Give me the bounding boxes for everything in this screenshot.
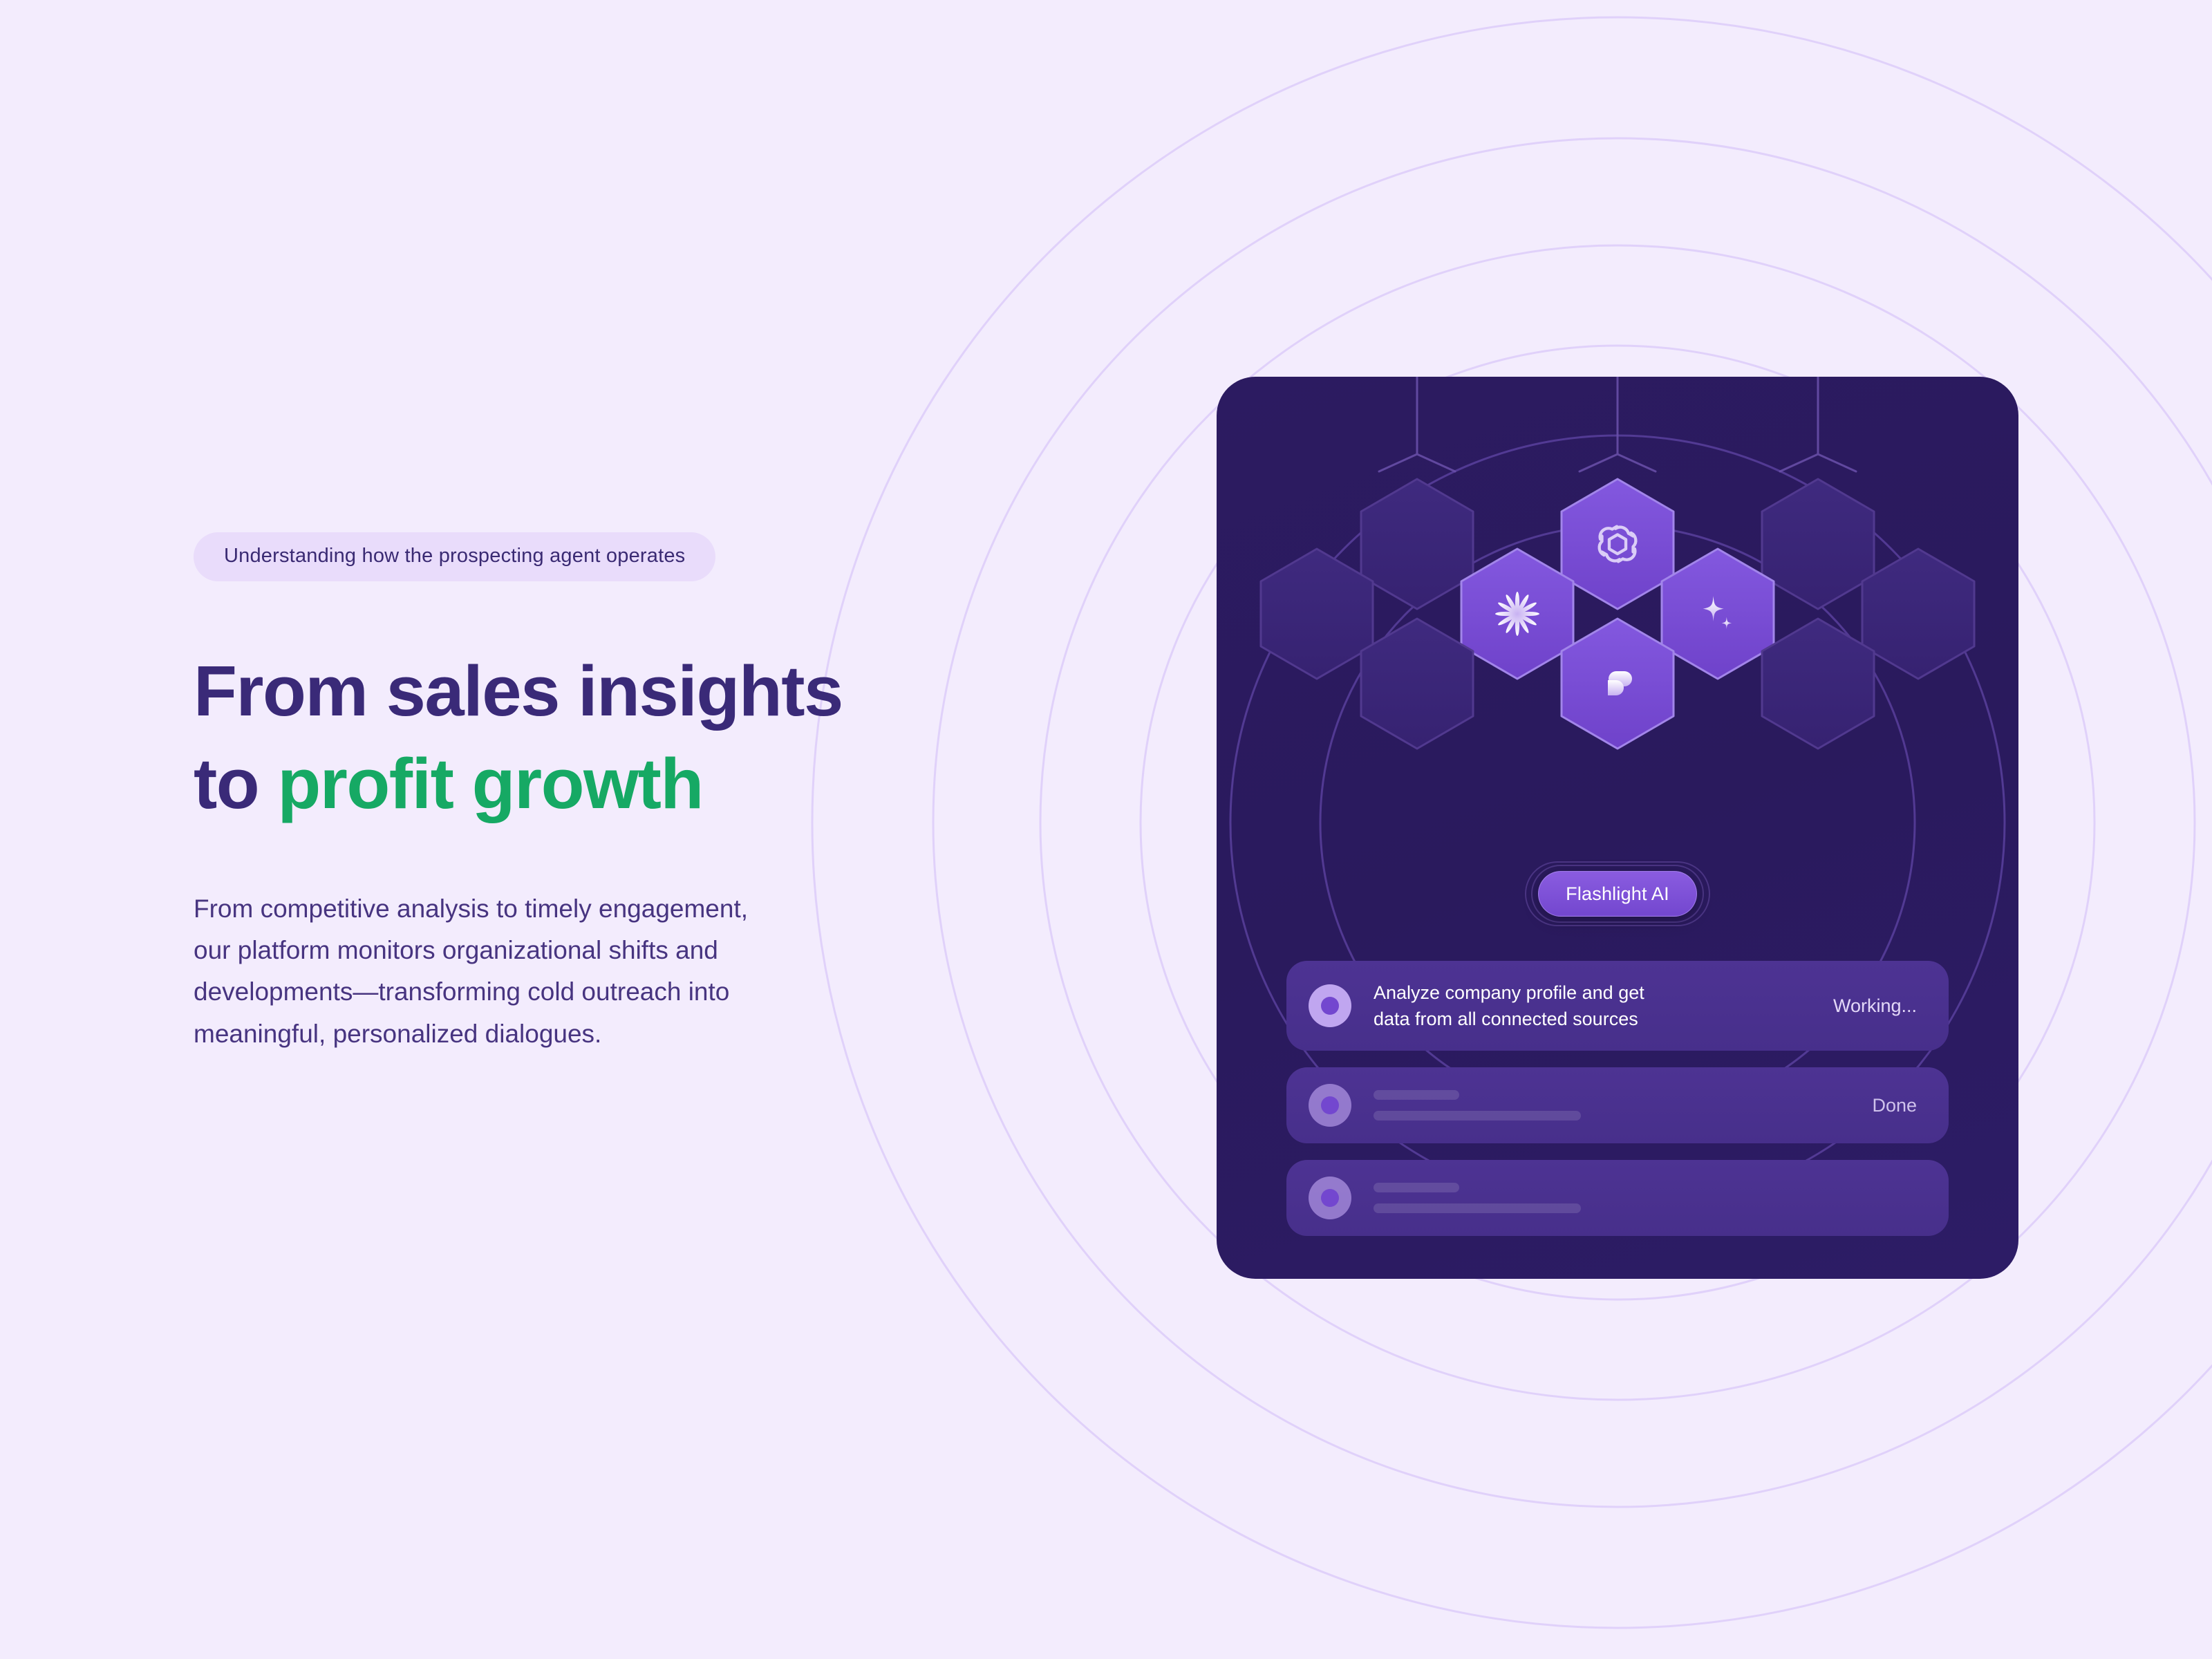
task-row-pending[interactable] bbox=[1286, 1160, 1949, 1236]
hexagon-tile-bottom-center-chat bbox=[1562, 619, 1674, 749]
status-dot-icon bbox=[1309, 1084, 1351, 1127]
headline-highlight: profit growth bbox=[277, 744, 703, 823]
hexagon-tile-mid-right-sparkle bbox=[1662, 549, 1774, 679]
headline-line-1: From sales insights bbox=[194, 645, 1009, 738]
hexagon-grid bbox=[1217, 377, 2018, 861]
hexagon-tile-top-right bbox=[1762, 479, 1874, 609]
headline-line-2: to profit growth bbox=[194, 738, 1009, 830]
hexagon-tile-mid-far-right bbox=[1862, 549, 1974, 679]
task-list: Analyze company profile and get data fro… bbox=[1286, 961, 1949, 1253]
task-title-line-2: data from all connected sources bbox=[1374, 1006, 1819, 1032]
hero-text-column: Understanding how the prospecting agent … bbox=[194, 532, 1009, 1055]
page-title: From sales insights to profit growth bbox=[194, 645, 1009, 830]
task-title: Analyze company profile and get data fro… bbox=[1374, 980, 1833, 1033]
hero-section: Understanding how the prospecting agent … bbox=[0, 0, 2212, 1659]
agent-visual-card: Flashlight AI Analyze company profile an… bbox=[1217, 377, 2018, 1279]
task-status-badge: Done bbox=[1872, 1095, 1917, 1116]
paragraph-line-1: From competitive analysis to timely enga… bbox=[194, 888, 968, 930]
task-row-done[interactable]: Done bbox=[1286, 1067, 1949, 1143]
task-status-badge: Working... bbox=[1833, 995, 1917, 1017]
hexagon-tile-bottom-right bbox=[1762, 619, 1874, 749]
hexagon-tile-top-left bbox=[1361, 479, 1473, 609]
flashlight-ai-pill[interactable]: Flashlight AI bbox=[1538, 871, 1697, 917]
hexagon-tile-bottom-left bbox=[1361, 619, 1473, 749]
status-dot-icon bbox=[1309, 984, 1351, 1027]
hexagon-tile-mid-left-starburst bbox=[1461, 549, 1573, 679]
hexagon-tile-mid-far-left bbox=[1261, 549, 1373, 679]
hexagon-tile-top-center-openai bbox=[1562, 479, 1674, 609]
paragraph-line-3: developments—transforming cold outreach … bbox=[194, 971, 968, 1013]
paragraph-line-2: our platform monitors organizational shi… bbox=[194, 930, 968, 971]
status-dot-icon bbox=[1309, 1177, 1351, 1219]
hero-paragraph: From competitive analysis to timely enga… bbox=[194, 888, 968, 1055]
brand-pill-wrapper: Flashlight AI bbox=[1524, 861, 1711, 927]
task-title-line-1: Analyze company profile and get bbox=[1374, 980, 1819, 1006]
task-row-active[interactable]: Analyze company profile and get data fro… bbox=[1286, 961, 1949, 1051]
task-title-placeholder bbox=[1374, 1183, 1917, 1213]
paragraph-line-4: meaningful, personalized dialogues. bbox=[194, 1013, 968, 1055]
task-title-placeholder bbox=[1374, 1090, 1872, 1121]
eyebrow-badge: Understanding how the prospecting agent … bbox=[194, 532, 715, 581]
headline-line-2-prefix: to bbox=[194, 744, 277, 823]
